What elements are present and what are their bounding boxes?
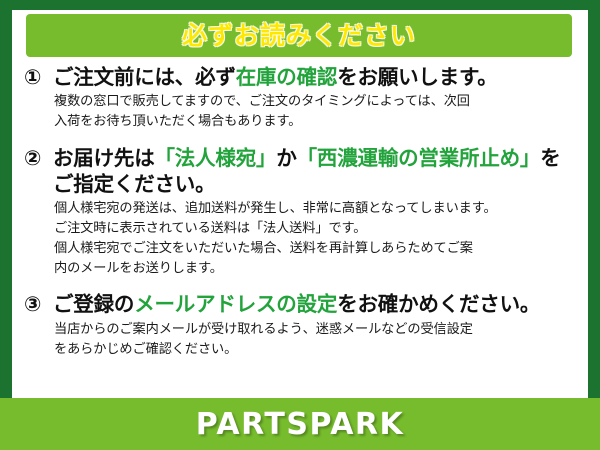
frame-border-top [0, 0, 600, 10]
notice-item-1: ①ご注文前には、必ず在庫の確認をお願いします。 複数の窓口で販売してますので、ご… [24, 64, 580, 132]
notice-item-2-body-line-4: 内のメールをお送りします。 [54, 259, 580, 279]
notice-item-3-heading-part-3: をお確かめください。 [337, 292, 540, 316]
notice-item-3: ③ご登録のメールアドレスの設定をお確かめください。 当店からのご案内メールが受け… [24, 291, 580, 359]
notice-item-2-heading-highlight-1: 「法人様宛」 [155, 146, 277, 170]
notice-item-2-marker: ② [24, 145, 53, 171]
notice-items-list: ①ご注文前には、必ず在庫の確認をお願いします。 複数の窓口で販売してますので、ご… [24, 64, 580, 361]
notice-item-3-marker: ③ [24, 291, 53, 317]
notice-item-1-body-line-2: 入荷をお待ち頂いただく場合もあります。 [54, 112, 580, 132]
notice-item-1-heading-highlight: 在庫の確認 [236, 65, 338, 89]
notice-item-2-body: 個人様宅宛の発送は、追加送料が発生し、非常に高額となってしまいます。 ご注文時に… [24, 199, 580, 278]
item-spacer-1 [24, 134, 580, 145]
notice-item-1-heading: ①ご注文前には、必ず在庫の確認をお願いします。 [24, 64, 580, 90]
brand-logo-text: PARTSPARK [196, 407, 405, 442]
notice-item-2-heading-part-1: お届け先は [53, 146, 155, 170]
notice-item-2-heading-highlight-2: 「西濃運輸の営業所止め」 [297, 146, 541, 170]
notice-item-1-marker: ① [24, 64, 53, 90]
notice-item-3-heading: ③ご登録のメールアドレスの設定をお確かめください。 [24, 291, 580, 317]
notice-item-3-heading-highlight: メールアドレスの設定 [134, 292, 337, 316]
notice-item-2-heading: ②お届け先は「法人様宛」か「西濃運輸の営業所止め」をご指定ください。 [24, 145, 580, 197]
item-spacer-2 [24, 280, 580, 291]
notice-item-3-body-line-1: 当店からのご案内メールが受け取れるよう、迷惑メールなどの受信設定 [54, 320, 580, 340]
title-banner: 必ずお読みください [26, 14, 572, 57]
notice-item-2-body-line-3: 個人様宅宛でご注文をいただいた場合、送料を再計算しあらためてご案 [54, 239, 580, 259]
notice-item-1-heading-part-1: ご注文前には、必ず [53, 65, 236, 89]
notice-item-3-body: 当店からのご案内メールが受け取れるよう、迷惑メールなどの受信設定 をあらかじめご… [24, 320, 580, 360]
notice-item-2-body-line-2: ご注文時に表示されている送料は「法人送料」です。 [54, 219, 580, 239]
notice-card: 必ずお読みください ①ご注文前には、必ず在庫の確認をお願いします。 複数の窓口で… [0, 0, 600, 450]
notice-item-1-heading-part-3: をお願いします。 [337, 65, 497, 89]
notice-item-2-body-line-1: 個人様宅宛の発送は、追加送料が発生し、非常に高額となってしまいます。 [54, 199, 580, 219]
notice-item-3-body-line-2: をあらかじめご確認ください。 [54, 340, 580, 360]
notice-item-1-body-line-1: 複数の窓口で販売してますので、ご注文のタイミングによっては、次回 [54, 92, 580, 112]
notice-item-2-heading-part-3: か [276, 146, 296, 170]
notice-item-1-body: 複数の窓口で販売してますので、ご注文のタイミングによっては、次回 入荷をお待ち頂… [24, 92, 580, 132]
notice-item-3-heading-part-1: ご登録の [53, 292, 134, 316]
frame-border-left [0, 0, 12, 400]
footer-brand-band: PARTSPARK [0, 398, 600, 450]
page-title: 必ずお読みください [182, 23, 416, 48]
frame-border-right [588, 0, 600, 400]
notice-item-2: ②お届け先は「法人様宛」か「西濃運輸の営業所止め」をご指定ください。 個人様宅宛… [24, 145, 580, 279]
